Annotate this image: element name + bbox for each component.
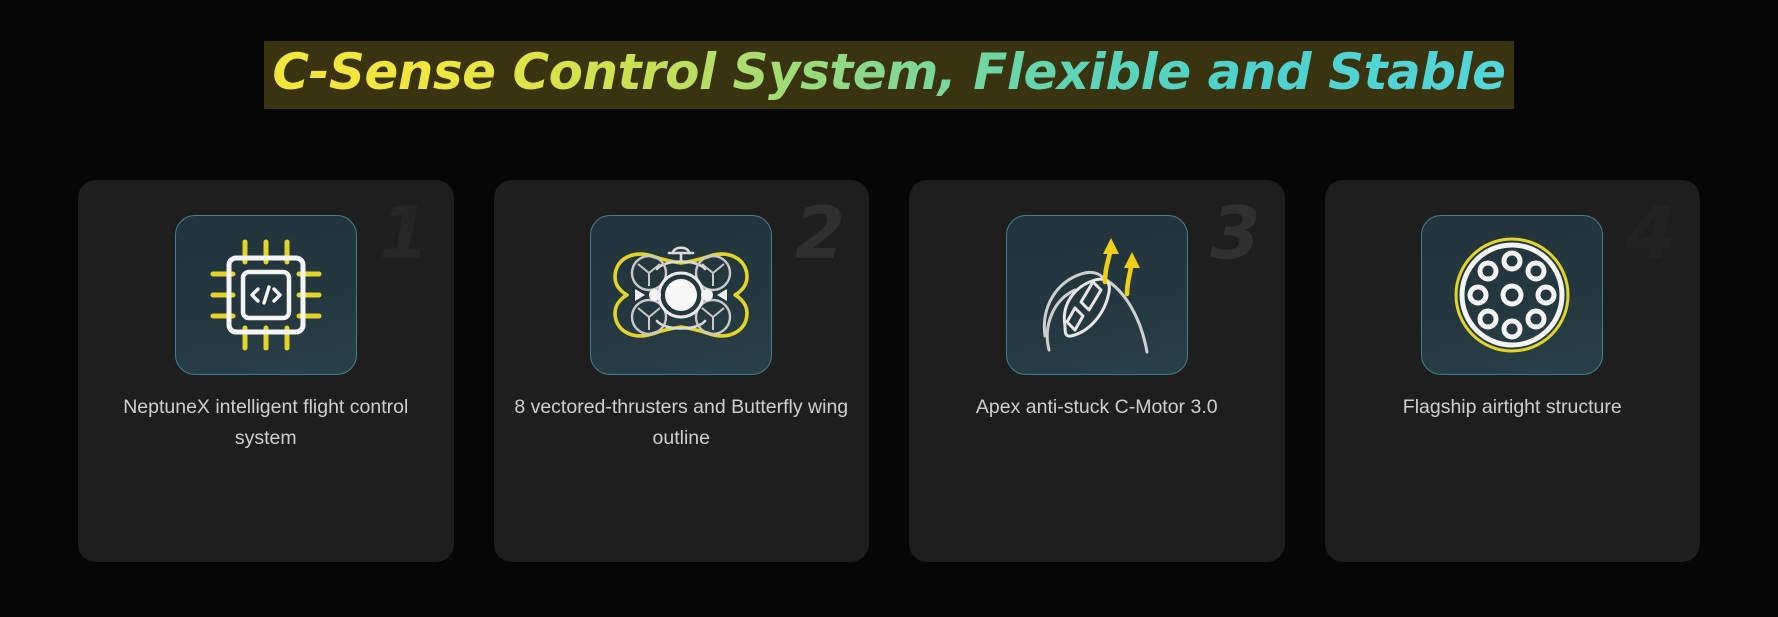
page-title: C-Sense Control System, Flexible and Sta… [268,43,1509,101]
motor-anti-stuck-arrows-icon [1031,234,1163,356]
icon-tile [1006,215,1188,375]
feature-card[interactable]: 3 [909,180,1285,562]
feature-card[interactable]: 1 [78,180,454,562]
card-index-number: 1 [379,190,429,276]
page-title-container: C-Sense Control System, Flexible and Sta… [0,34,1778,112]
card-caption: 8 vectored-thrusters and Butterfly wing … [514,392,850,454]
card-caption: NeptuneX intelligent flight control syst… [98,392,434,454]
cpu-code-chip-icon [207,236,325,354]
page-title-inner: C-Sense Control System, Flexible and Sta… [268,34,1509,110]
drone-butterfly-wing-thrusters-icon [611,239,751,351]
airtight-seal-ring-icon [1451,234,1573,356]
icon-tile [1421,215,1603,375]
card-index-number: 4 [1626,190,1676,276]
card-caption: Flagship airtight structure [1345,392,1681,423]
feature-card[interactable]: 4 [1325,180,1701,562]
card-index-number: 2 [795,190,845,276]
icon-tile [590,215,772,375]
card-caption: Apex anti-stuck C-Motor 3.0 [929,392,1265,423]
icon-tile [175,215,357,375]
feature-card[interactable]: 2 [494,180,870,562]
feature-highlights-page: C-Sense Control System, Flexible and Sta… [0,0,1778,617]
card-index-number: 3 [1210,190,1260,276]
feature-card-list: 1 [78,180,1700,562]
